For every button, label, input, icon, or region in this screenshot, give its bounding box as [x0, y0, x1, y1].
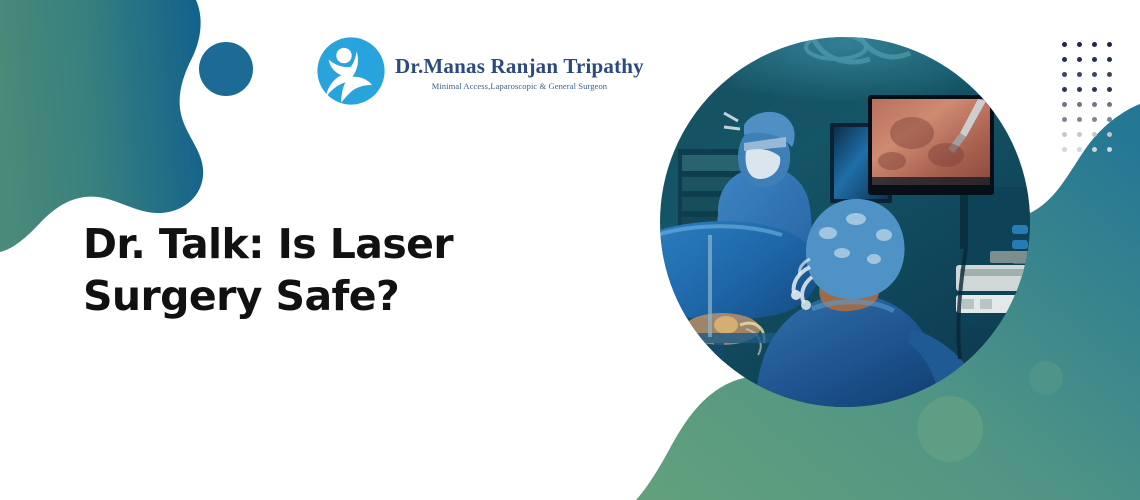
grid-dot	[1107, 42, 1112, 47]
grid-dot	[1062, 42, 1067, 47]
brand-logo[interactable]: Dr.Manas Ranjan Tripathy Minimal Access,…	[316, 36, 644, 106]
grid-dot	[1107, 72, 1112, 77]
promo-banner: Dr.Manas Ranjan Tripathy Minimal Access,…	[0, 0, 1140, 500]
bottom-right-accent-dot-small	[1029, 361, 1063, 395]
grid-dot	[1092, 87, 1097, 92]
grid-dot	[1092, 42, 1097, 47]
grid-dot	[1077, 57, 1082, 62]
grid-dot	[1092, 132, 1097, 137]
bottom-right-accent-dot-large	[917, 396, 983, 462]
grid-dot	[1107, 102, 1112, 107]
grid-dot	[1107, 132, 1112, 137]
grid-dot	[1107, 87, 1112, 92]
grid-dot	[1077, 117, 1082, 122]
grid-dot	[1062, 72, 1067, 77]
grid-dot	[1077, 72, 1082, 77]
grid-dot	[1062, 57, 1067, 62]
grid-dot	[1077, 42, 1082, 47]
grid-dot	[1062, 132, 1067, 137]
grid-dot	[1062, 117, 1067, 122]
logo-tagline: Minimal Access,Laparoscopic & General Su…	[432, 81, 607, 91]
grid-dot	[1077, 132, 1082, 137]
grid-dot	[1092, 102, 1097, 107]
top-left-accent-dot	[199, 42, 253, 96]
grid-dot	[1107, 117, 1112, 122]
grid-dot	[1092, 117, 1097, 122]
grid-dot	[1092, 57, 1097, 62]
operating-room-laparoscopic-surgery-photo	[660, 37, 1030, 407]
human-figure-logo-icon	[316, 36, 386, 106]
grid-dot	[1062, 147, 1067, 152]
grid-dot	[1077, 102, 1082, 107]
logo-practice-name: Dr.Manas Ranjan Tripathy	[395, 55, 644, 78]
page-title: Dr. Talk: Is Laser Surgery Safe?	[83, 218, 553, 323]
grid-dot	[1107, 57, 1112, 62]
grid-dot	[1077, 87, 1082, 92]
dot-grid-decoration	[1062, 42, 1122, 162]
grid-dot	[1077, 147, 1082, 152]
grid-dot	[1062, 87, 1067, 92]
grid-dot	[1092, 72, 1097, 77]
grid-dot	[1092, 147, 1097, 152]
top-left-blob-shape	[0, 0, 203, 252]
grid-dot	[1107, 147, 1112, 152]
grid-dot	[1062, 102, 1067, 107]
